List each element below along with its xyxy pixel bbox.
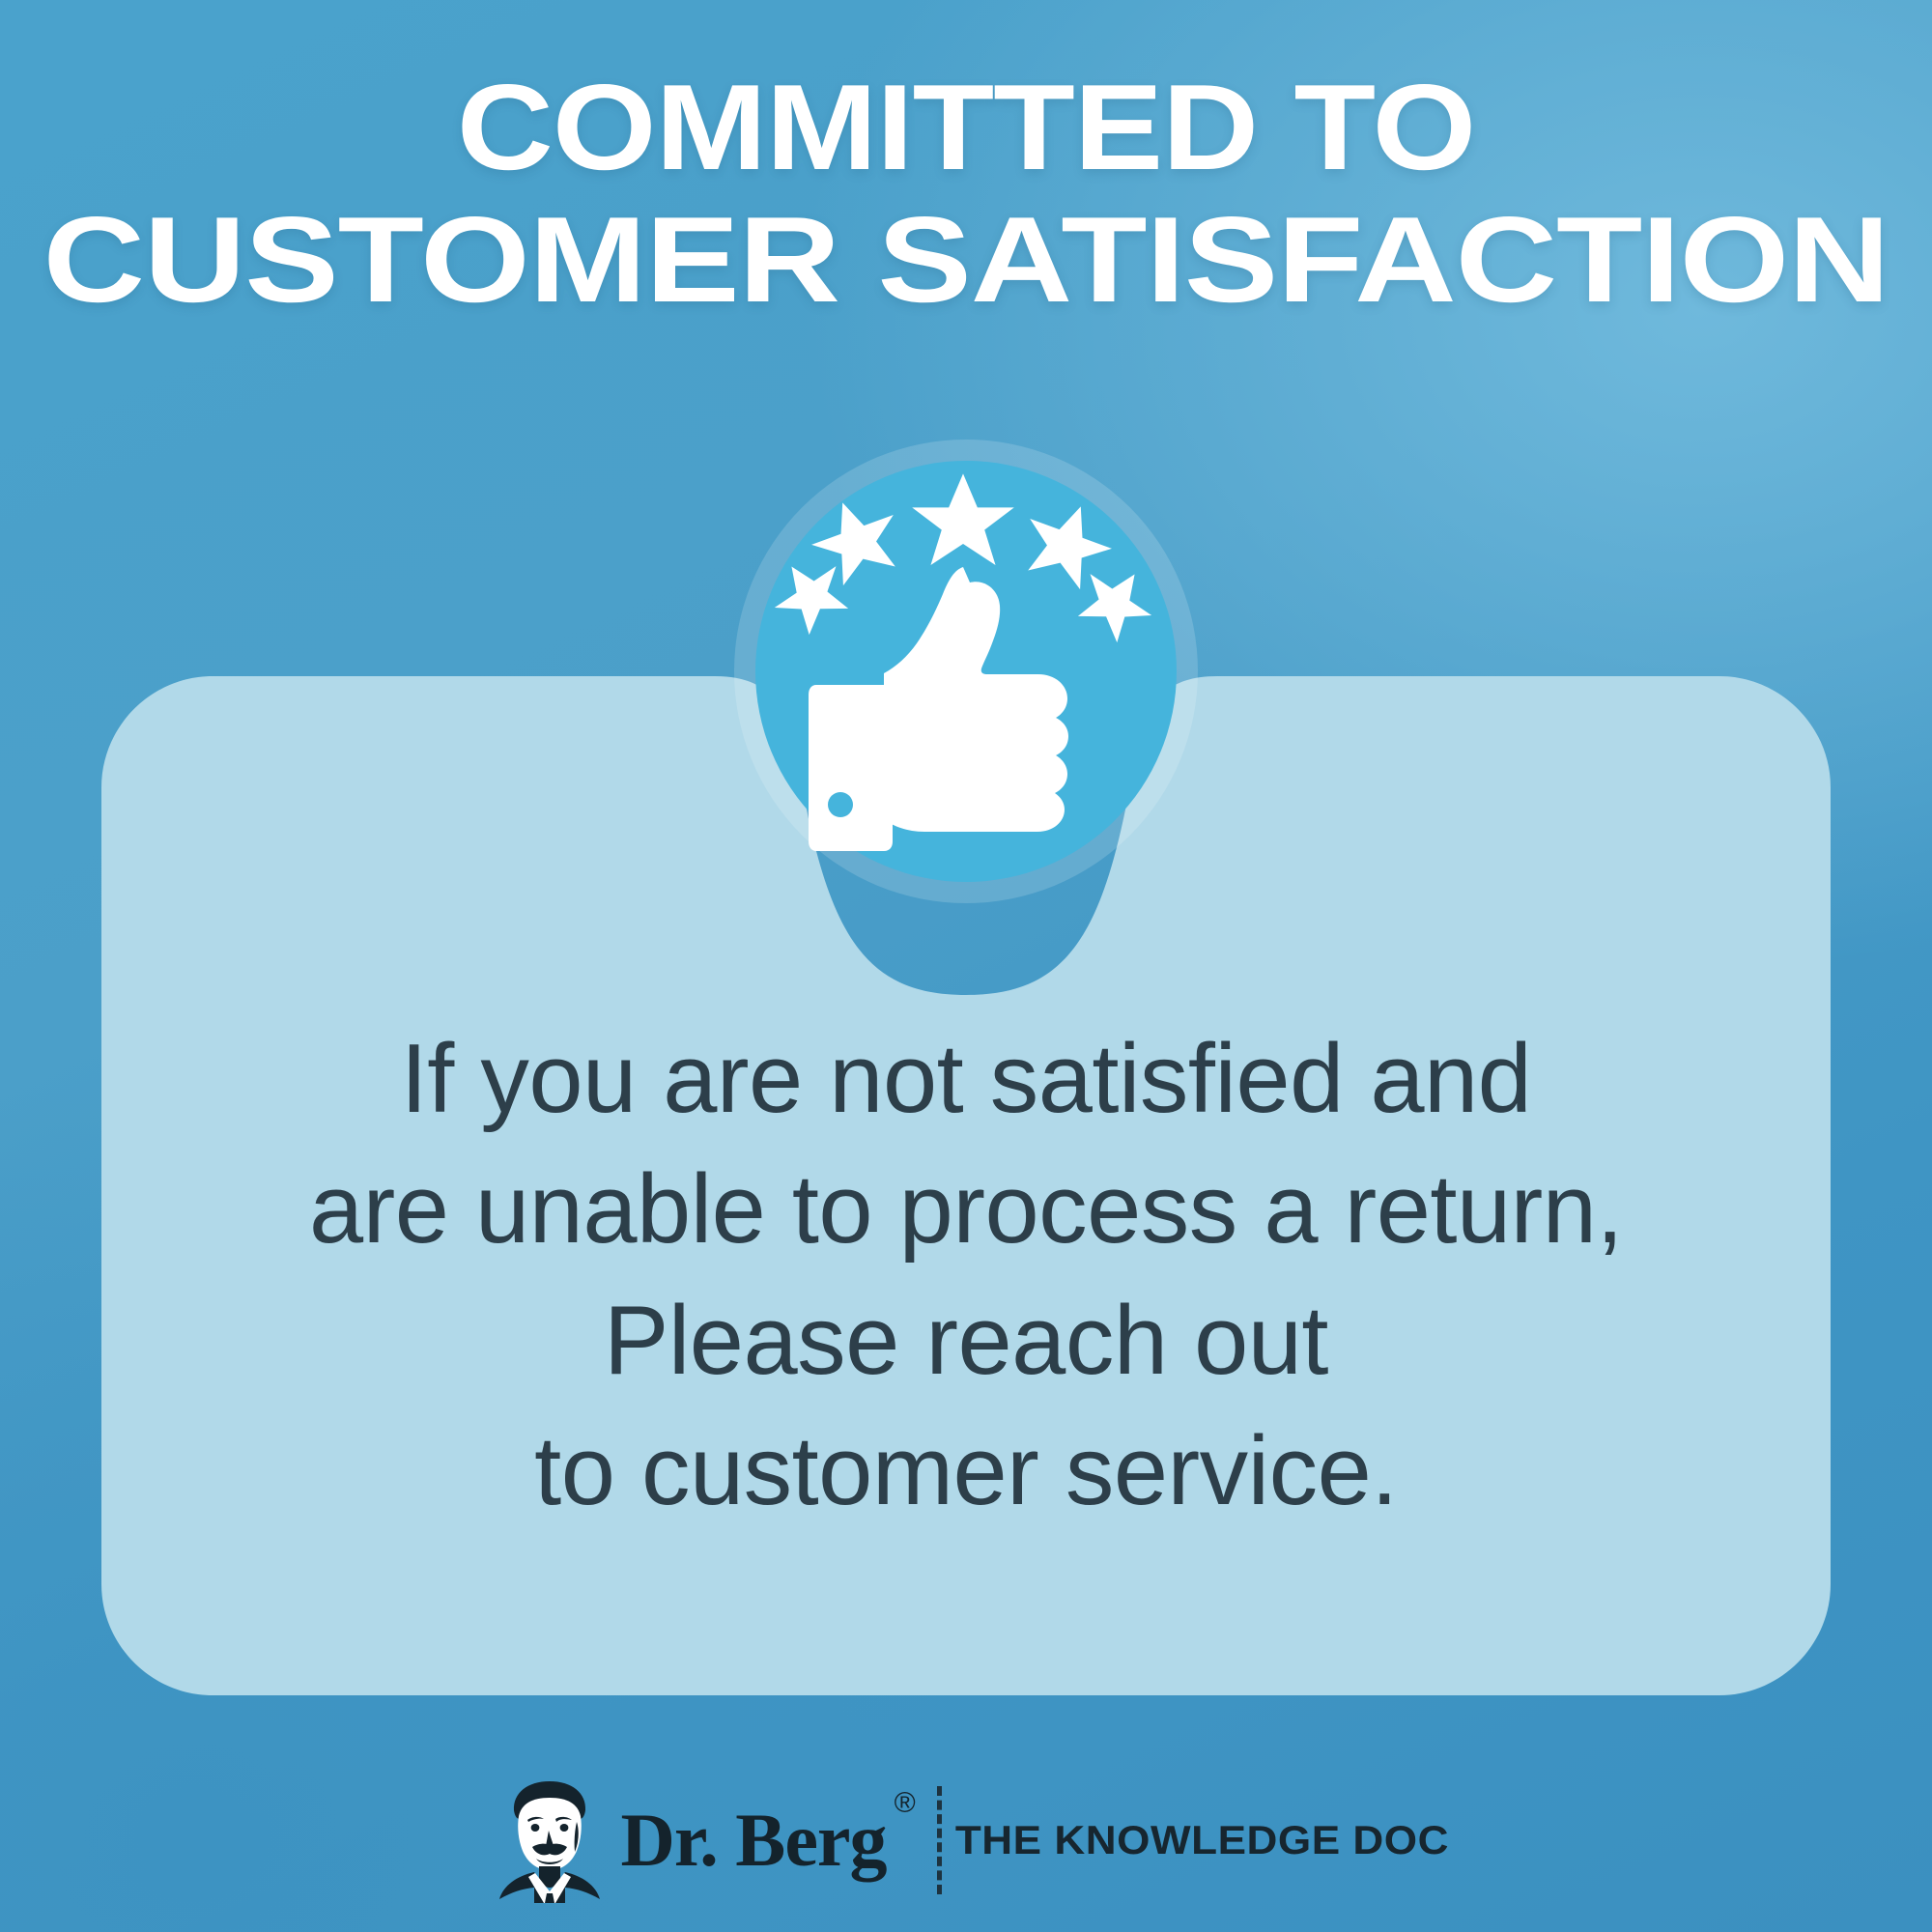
body-line-2: are unable to process a return, <box>116 1145 1816 1275</box>
brand-logo: Dr. Berg ® THE KNOWLEDGE DOC <box>0 1777 1932 1903</box>
satisfaction-badge <box>734 440 1198 903</box>
title-line-2: CUSTOMER SATISFACTION <box>0 198 1932 323</box>
cuff-shape <box>809 685 893 851</box>
registered-trademark-icon: ® <box>895 1789 916 1818</box>
star-3-icon <box>912 473 1014 565</box>
cuff-button-icon <box>828 792 853 817</box>
title-line-1: COMMITTED TO <box>0 66 1932 190</box>
logo-divider <box>937 1786 942 1894</box>
thumb-hand-shape <box>884 567 1068 832</box>
card-body-text: If you are not satisfied and are unable … <box>116 1014 1816 1537</box>
body-line-1: If you are not satisfied and <box>116 1014 1816 1145</box>
brand-tagline: THE KNOWLEDGE DOC <box>955 1820 1449 1861</box>
body-line-4: to customer service. <box>116 1406 1816 1537</box>
poster-canvas: COMMITTED TO CUSTOMER SATISFACTION <box>0 0 1932 1932</box>
thumbs-up-five-stars-icon <box>755 461 1177 882</box>
star-4-icon <box>1013 492 1122 595</box>
star-5-icon <box>1066 554 1165 650</box>
body-line-3: Please reach out <box>116 1276 1816 1406</box>
dr-berg-portrait-icon <box>496 1777 604 1903</box>
brand-name: Dr. Berg <box>621 1803 887 1878</box>
page-title: COMMITTED TO CUSTOMER SATISFACTION <box>0 66 1932 322</box>
star-2-icon <box>802 488 910 591</box>
